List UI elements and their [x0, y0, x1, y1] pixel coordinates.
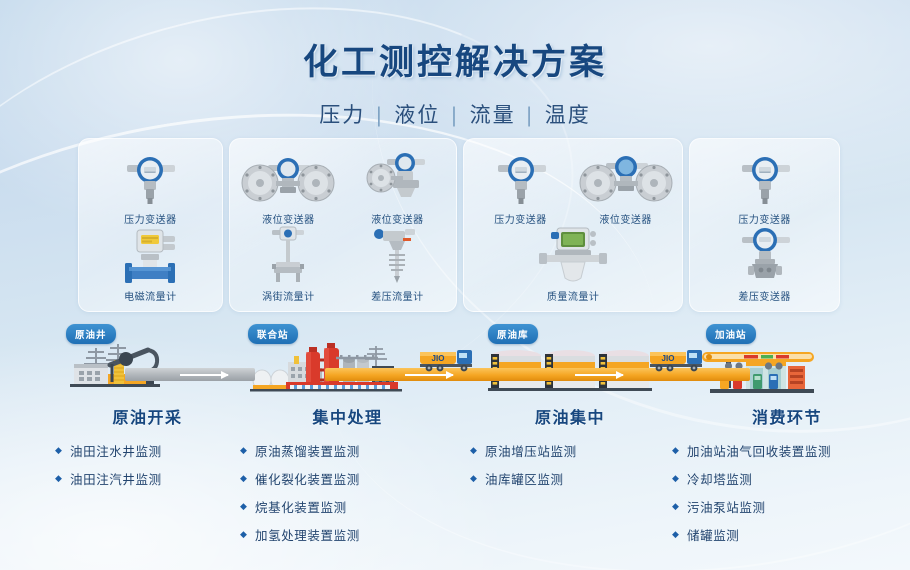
product-card-pressure-flow[interactable]: 压力变送器 — [78, 138, 223, 312]
section-crude-extraction: 原油开采 ◆油田注水井监测 ◆油田注汽井监测 — [55, 404, 240, 497]
stage-refinery[interactable]: 联合站 — [248, 322, 438, 408]
product-caption: 液位变送器 — [262, 211, 315, 226]
tanker-truck-2: JIO — [648, 348, 710, 374]
pressure-transmitter-icon — [730, 151, 800, 207]
pressure-transmitter-icon — [486, 151, 556, 207]
flow-arrow-icon — [180, 374, 228, 376]
bullet-diamond-icon: ◆ — [672, 501, 680, 512]
product-row: 质量流量计 — [468, 226, 678, 303]
stage-badge: 原油库 — [488, 324, 538, 344]
product-row: 液位变送器 — [234, 149, 452, 226]
list-item: ◆储罐监测 — [672, 525, 902, 544]
bullet-diamond-icon: ◆ — [55, 445, 63, 456]
product-caption: 压力变送器 — [494, 211, 547, 226]
poster-root: 化工测控解决方案 压力 | 液位 | 流量 | 温度 — [0, 0, 910, 570]
tanker-truck-icon: JIO — [648, 348, 710, 374]
product-row: 压力变送器 — [694, 149, 835, 226]
list-item-label: 加氢处理装置监测 — [255, 529, 360, 543]
bullet-diamond-icon: ◆ — [470, 445, 478, 456]
stage-badge: 加油站 — [706, 324, 756, 344]
list-item-label: 油田注水井监测 — [70, 445, 162, 459]
page-subtitle: 压力 | 液位 | 流量 | 温度 — [0, 99, 910, 129]
list-item-label: 污油泵站监测 — [687, 501, 766, 515]
section-bullet-list: ◆加油站油气回收装置监测 ◆冷却塔监测 ◆污油泵站监测 ◆储罐监测 — [672, 441, 902, 544]
list-item-label: 油库罐区监测 — [485, 473, 564, 487]
product-pressure-transmitter[interactable]: 压力变送器 — [100, 151, 200, 226]
list-item-label: 储罐监测 — [687, 529, 739, 543]
tanker-truck-1: JIO — [418, 348, 480, 374]
product-caption: 液位变送器 — [371, 211, 424, 226]
subtitle-item-flow: 流量 — [470, 104, 516, 127]
list-item: ◆加油站油气回收装置监测 — [672, 441, 902, 460]
bullet-diamond-icon: ◆ — [240, 501, 248, 512]
product-card-pressure-differential[interactable]: 压力变送器 — [689, 138, 840, 312]
stage-badge: 联合站 — [248, 324, 298, 344]
bullet-diamond-icon: ◆ — [470, 473, 478, 484]
product-card-level-flow[interactable]: 液位变送器 — [229, 138, 457, 312]
electromagnetic-flowmeter-icon — [115, 228, 185, 284]
list-item-label: 原油增压站监测 — [485, 445, 577, 459]
product-card-pressure-level-mass[interactable]: 压力变送器 — [463, 138, 683, 312]
bullet-diamond-icon: ◆ — [672, 529, 680, 540]
list-item-label: 催化裂化装置监测 — [255, 473, 360, 487]
product-row: 差压变送器 — [694, 226, 835, 303]
subtitle-item-level: 液位 — [394, 104, 440, 127]
product-level-transmitter-double-flange[interactable]: 液位变送器 — [576, 151, 676, 226]
flow-arrow-icon — [575, 374, 623, 376]
product-caption: 质量流量计 — [547, 288, 600, 303]
section-bullet-list: ◆油田注水井监测 ◆油田注汽井监测 — [55, 441, 240, 488]
subtitle-item-temperature: 温度 — [545, 104, 591, 127]
subtitle-separator-3: | — [526, 104, 533, 127]
product-vortex-flowmeter[interactable]: 涡街流量计 — [238, 228, 338, 303]
poster-header: 化工测控解决方案 压力 | 液位 | 流量 | 温度 — [0, 0, 910, 129]
list-item: ◆污油泵站监测 — [672, 497, 902, 516]
product-caption: 压力变送器 — [124, 211, 177, 226]
product-row: 压力变送器 — [83, 149, 218, 226]
stage-gas-station[interactable]: 加油站 — [700, 322, 850, 408]
section-title: 原油开采 — [55, 404, 240, 428]
list-item: ◆原油蒸馏装置监测 — [240, 441, 455, 460]
list-item: ◆烷基化装置监测 — [240, 497, 455, 516]
level-transmitter-single-flange-icon — [357, 151, 437, 207]
section-consumption: 消费环节 ◆加油站油气回收装置监测 ◆冷却塔监测 ◆污油泵站监测 ◆储罐监测 — [672, 404, 902, 553]
subtitle-separator-1: | — [376, 104, 383, 127]
product-caption: 涡街流量计 — [262, 288, 315, 303]
stage-badge: 原油井 — [66, 324, 116, 344]
product-row: 电磁流量计 — [83, 226, 218, 303]
subtitle-item-pressure: 压力 — [319, 104, 365, 127]
bullet-diamond-icon: ◆ — [672, 445, 680, 456]
product-caption: 差压变送器 — [738, 288, 791, 303]
page-title: 化工测控解决方案 — [0, 34, 910, 85]
product-caption: 电磁流量计 — [124, 288, 177, 303]
tanker-truck-icon: JIO — [418, 348, 480, 374]
subtitle-separator-2: | — [451, 104, 458, 127]
pipeline-segment-1 — [125, 368, 255, 381]
product-caption: 差压流量计 — [371, 288, 424, 303]
list-item-label: 加油站油气回收装置监测 — [687, 445, 831, 459]
bullet-diamond-icon: ◆ — [55, 473, 63, 484]
product-caption: 液位变送器 — [599, 211, 652, 226]
product-differential-pressure-transmitter[interactable]: 差压变送器 — [715, 228, 815, 303]
product-mass-flowmeter[interactable]: 质量流量计 — [523, 228, 623, 303]
list-item: ◆油田注汽井监测 — [55, 469, 240, 488]
truck-label: JIO — [432, 354, 445, 363]
product-caption: 压力变送器 — [738, 211, 791, 226]
product-differential-pressure-flowmeter[interactable]: 差压流量计 — [347, 228, 447, 303]
section-title: 原油集中 — [470, 404, 670, 428]
section-title: 集中处理 — [240, 404, 455, 428]
list-item: ◆原油增压站监测 — [470, 441, 670, 460]
truck-label: JIO — [662, 354, 675, 363]
list-item: ◆催化裂化装置监测 — [240, 469, 455, 488]
section-crude-storage: 原油集中 ◆原油增压站监测 ◆油库罐区监测 — [470, 404, 670, 497]
list-item-label: 冷却塔监测 — [687, 473, 753, 487]
bullet-diamond-icon: ◆ — [672, 473, 680, 484]
product-row: 压力变送器 — [468, 149, 678, 226]
list-item-label: 烷基化装置监测 — [255, 501, 347, 515]
product-row: 涡街流量计 — [234, 226, 452, 303]
section-bullet-list: ◆原油增压站监测 ◆油库罐区监测 — [470, 441, 670, 488]
mass-flowmeter-icon — [533, 228, 613, 284]
bullet-diamond-icon: ◆ — [240, 473, 248, 484]
list-item: ◆冷却塔监测 — [672, 469, 902, 488]
product-card-row: 压力变送器 — [78, 138, 840, 312]
section-title: 消费环节 — [672, 404, 902, 428]
bullet-diamond-icon: ◆ — [240, 445, 248, 456]
list-item-label: 油田注汽井监测 — [70, 473, 162, 487]
list-item: ◆油田注水井监测 — [55, 441, 240, 460]
stage-tank-farm[interactable]: 原油库 — [488, 322, 663, 410]
level-transmitter-double-flange-icon — [236, 151, 340, 207]
list-item: ◆油库罐区监测 — [470, 469, 670, 488]
section-central-processing: 集中处理 ◆原油蒸馏装置监测 ◆催化裂化装置监测 ◆烷基化装置监测 ◆加氢处理装… — [240, 404, 455, 553]
bullet-diamond-icon: ◆ — [240, 529, 248, 540]
stage-oil-well[interactable]: 原油井 — [62, 322, 262, 408]
differential-pressure-transmitter-icon — [730, 228, 800, 284]
list-item-label: 原油蒸馏装置监测 — [255, 445, 360, 459]
process-flow: 原油井 — [0, 322, 910, 412]
differential-pressure-flowmeter-icon — [367, 228, 427, 284]
list-item: ◆加氢处理装置监测 — [240, 525, 455, 544]
product-level-transmitter-single-flange[interactable]: 液位变送器 — [347, 151, 447, 226]
section-bullet-list: ◆原油蒸馏装置监测 ◆催化裂化装置监测 ◆烷基化装置监测 ◆加氢处理装置监测 — [240, 441, 455, 544]
pressure-transmitter-icon — [115, 151, 185, 207]
product-pressure-transmitter[interactable]: 压力变送器 — [471, 151, 571, 226]
product-level-transmitter-double-flange[interactable]: 液位变送器 — [238, 151, 338, 226]
vortex-flowmeter-icon — [258, 228, 318, 284]
product-pressure-transmitter[interactable]: 压力变送器 — [715, 151, 815, 226]
product-electromagnetic-flowmeter[interactable]: 电磁流量计 — [100, 228, 200, 303]
level-transmitter-double-flange-icon — [574, 151, 678, 207]
